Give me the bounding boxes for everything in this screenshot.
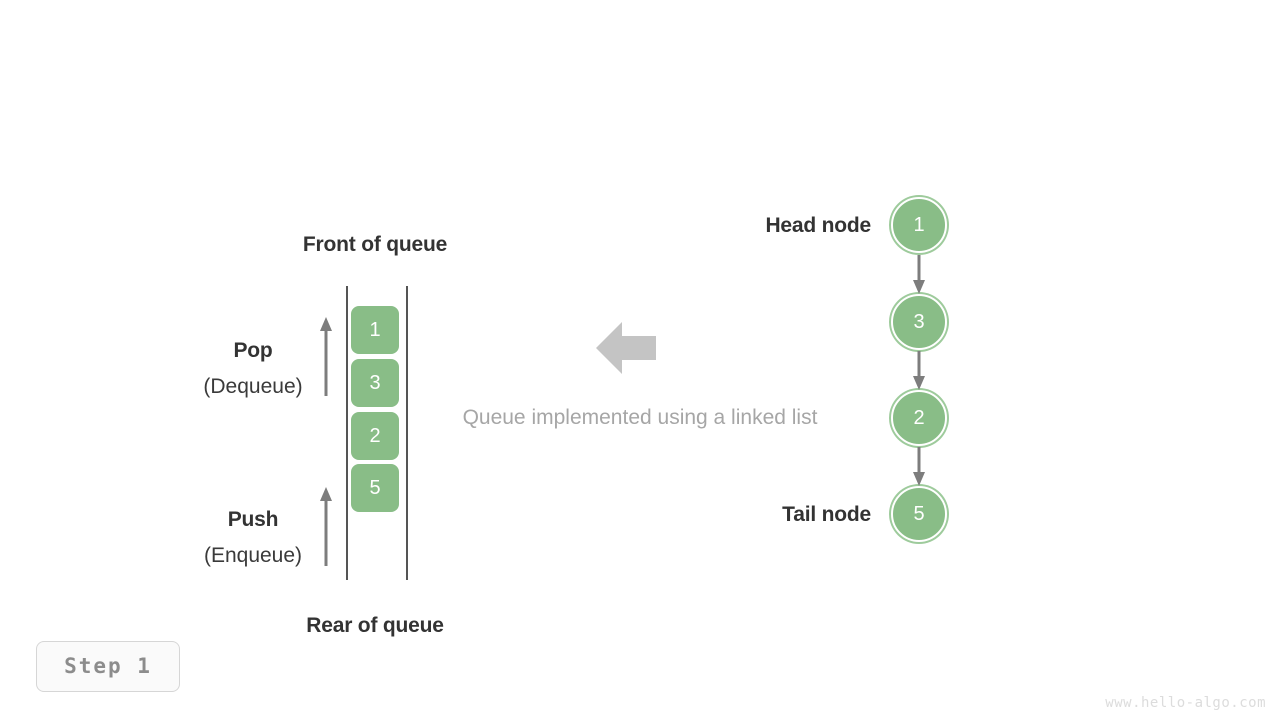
pop-sublabel: (Dequeue) — [203, 376, 302, 397]
push-sublabel: (Enqueue) — [204, 545, 302, 566]
pop-label: Pop — [233, 340, 272, 361]
list-node: 1 — [891, 197, 947, 253]
queue-cell: 5 — [351, 464, 399, 512]
tail-node-label: Tail node — [782, 504, 871, 525]
node-link-arrow-icon — [912, 255, 926, 295]
head-node-label: Head node — [765, 215, 871, 236]
step-badge: Step 1 — [36, 641, 180, 692]
queue-rail-left — [346, 286, 348, 580]
queue-rail-right — [406, 286, 408, 580]
pop-up-arrow-icon — [318, 316, 334, 398]
list-node: 5 — [891, 486, 947, 542]
queue-cell: 2 — [351, 412, 399, 460]
list-node: 2 — [891, 390, 947, 446]
diagram-caption: Queue implemented using a linked list — [463, 407, 818, 428]
list-node: 3 — [891, 294, 947, 350]
watermark: www.hello-algo.com — [1105, 696, 1266, 710]
node-link-arrow-icon — [912, 447, 926, 487]
queue-cell: 3 — [351, 359, 399, 407]
queue-cell: 1 — [351, 306, 399, 354]
rear-of-queue-label: Rear of queue — [306, 615, 443, 636]
left-pointing-arrow-icon — [596, 322, 656, 374]
push-up-arrow-icon — [318, 486, 334, 568]
diagram-canvas: Front of queue 1 3 2 5 Pop (Dequeue) Pus… — [0, 0, 1280, 720]
push-label: Push — [228, 509, 279, 530]
step-badge-label: Step 1 — [64, 656, 152, 677]
node-link-arrow-icon — [912, 351, 926, 391]
front-of-queue-label: Front of queue — [303, 234, 447, 255]
